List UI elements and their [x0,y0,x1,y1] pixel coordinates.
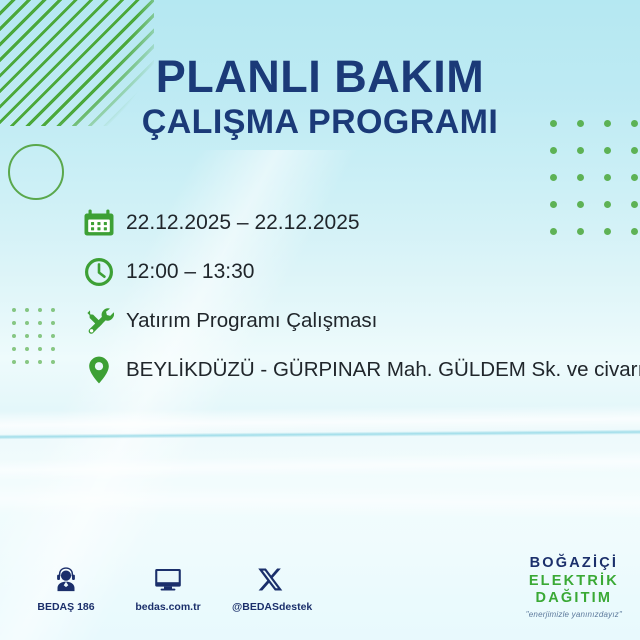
monitor-icon [130,562,206,596]
contact-website[interactable]: bedas.com.tr [130,562,206,613]
page-subtitle: ÇALIŞMA PROGRAMI [0,105,640,141]
contact-phone-label: BEDAŞ 186 [28,601,104,613]
planned-maintenance-poster: PLANLI BAKIM ÇALIŞMA PROGRAMI [0,0,640,640]
maintenance-date-range: 22.12.2025 – 22.12.2025 [126,211,360,235]
tools-icon [84,306,126,336]
detail-row-date: 22.12.2025 – 22.12.2025 [84,198,624,247]
logo-line-dagitim: DAĞITIM [526,591,622,606]
clock-icon [84,257,126,287]
background-wave-4 [0,484,640,519]
logo-tagline: "enerjimizle yanınızdayız" [526,611,622,619]
background-wave-3 [0,450,640,482]
maintenance-work-type: Yatırım Programı Çalışması [126,309,377,333]
location-pin-icon [84,355,126,385]
contact-x-label: @BEDASdestek [232,601,308,613]
detail-row-location: BEYLİKDÜZÜ - GÜRPINAR Mah. GÜLDEM Sk. ve… [84,345,624,394]
bedas-logo: BOĞAZİÇİ ELEKTRİK DAĞITIM "enerjimizle y… [526,556,622,619]
poster-heading: PLANLI BAKIM ÇALIŞMA PROGRAMI [0,54,640,140]
contact-x-account[interactable]: @BEDASdestek [232,562,308,613]
calendar-icon [84,208,126,238]
contact-website-label: bedas.com.tr [130,601,206,613]
dot-grid-left-decoration [12,308,55,364]
logo-line-bogazici: BOĞAZİÇİ [526,556,622,571]
headset-support-icon [28,562,104,596]
footer-contacts: BEDAŞ 186 bedas.com.tr @BEDASdestek [28,562,308,613]
detail-row-work-type: Yatırım Programı Çalışması [84,296,624,345]
page-title: PLANLI BAKIM [0,54,640,101]
circle-outline-decoration [8,144,64,200]
x-twitter-icon [232,562,308,596]
background-wave-2 [0,429,640,439]
detail-row-time: 12:00 – 13:30 [84,247,624,296]
contact-phone[interactable]: BEDAŞ 186 [28,562,104,613]
maintenance-location: BEYLİKDÜZÜ - GÜRPINAR Mah. GÜLDEM Sk. ve… [126,358,640,382]
maintenance-time-range: 12:00 – 13:30 [126,260,254,284]
maintenance-details: 22.12.2025 – 22.12.2025 12:00 – 13:30 [84,198,624,394]
logo-line-elektrik: ELEKTRİK [526,574,622,589]
background-wave-1 [0,404,640,437]
